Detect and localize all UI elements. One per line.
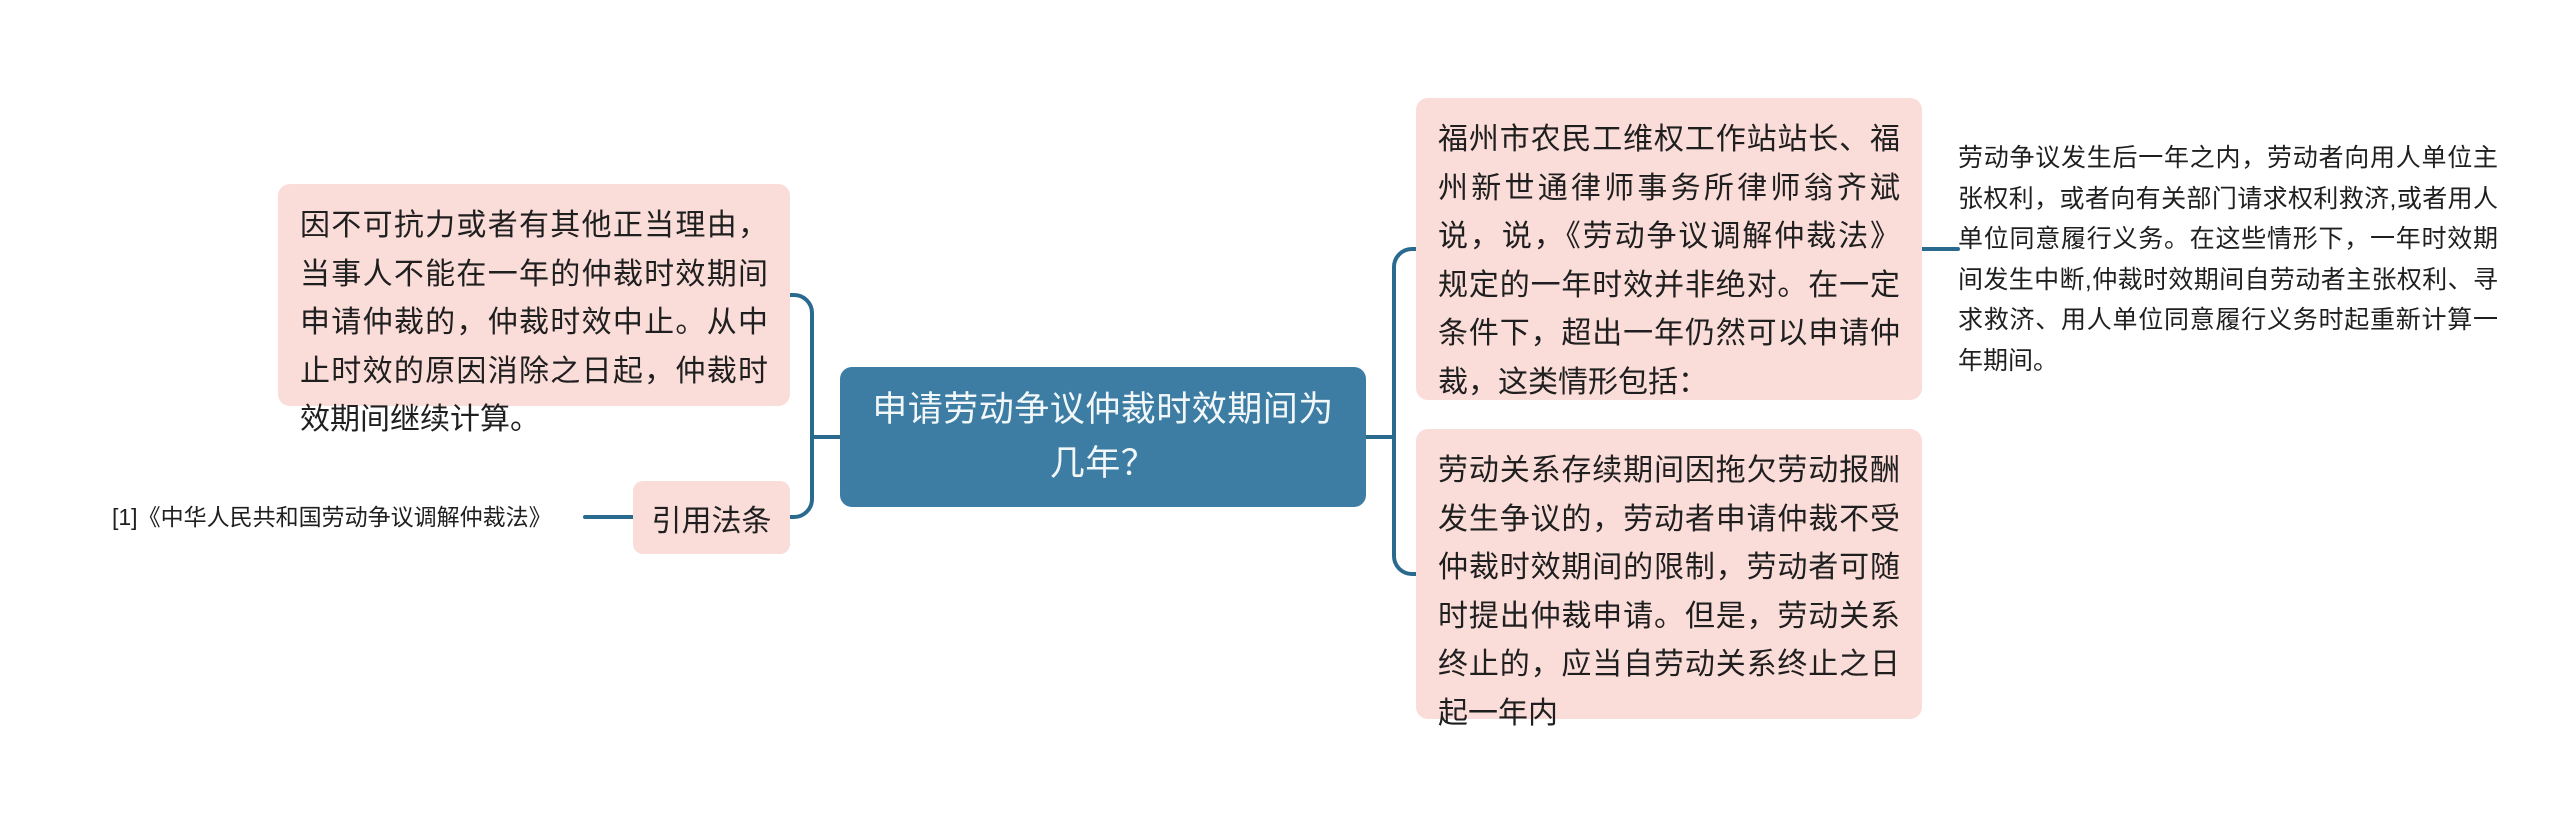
branch-cited-law[interactable]: 引用法条 [633, 481, 790, 554]
edge-left-suspension [790, 295, 812, 437]
leaf-interruption[interactable]: 劳动争议发生后一年之内，劳动者向用人单位主张权利，或者向有关部门请求权利救济,或… [1958, 138, 2498, 360]
branch-cited-law-label: 引用法条 [652, 496, 772, 540]
leaf-citation[interactable]: [1]《中华人民共和国劳动争议调解仲裁法》 [112, 496, 582, 538]
mindmap-canvas: 申请劳动争议仲裁时效期间为几年？ 因不可抗力或者有其他正当理由，当事人不能在一年… [0, 0, 2560, 813]
leaf-interruption-label: 劳动争议发生后一年之内，劳动者向用人单位主张权利，或者向有关部门请求权利救济,或… [1958, 144, 2498, 375]
branch-suspension[interactable]: 因不可抗力或者有其他正当理由，当事人不能在一年的仲裁时效期间申请仲裁的，仲裁时效… [278, 184, 790, 406]
branch-lawyer-statement[interactable]: 福州市农民工维权工作站站长、福州新世通律师事务所律师翁齐斌说，说，《劳动争议调解… [1416, 98, 1922, 400]
branch-suspension-label: 因不可抗力或者有其他正当理由，当事人不能在一年的仲裁时效期间申请仲裁的，仲裁时效… [300, 209, 768, 436]
edge-right-lawyer [1394, 249, 1416, 437]
branch-wage-arrears[interactable]: 劳动关系存续期间因拖欠劳动报酬发生争议的，劳动者申请仲裁不受仲裁时效期间的限制，… [1416, 429, 1922, 719]
leaf-citation-label: [1]《中华人民共和国劳动争议调解仲裁法》 [112, 501, 552, 533]
branch-lawyer-statement-label: 福州市农民工维权工作站站长、福州新世通律师事务所律师翁齐斌说，说，《劳动争议调解… [1438, 123, 1900, 399]
root-node[interactable]: 申请劳动争议仲裁时效期间为几年？ [840, 367, 1366, 507]
branch-wage-arrears-label: 劳动关系存续期间因拖欠劳动报酬发生争议的，劳动者申请仲裁不受仲裁时效期间的限制，… [1438, 454, 1900, 730]
edge-right-arrears [1394, 437, 1416, 574]
edge-left-citedlaw [790, 437, 812, 517]
root-node-label: 申请劳动争议仲裁时效期间为几年？ [862, 383, 1344, 492]
